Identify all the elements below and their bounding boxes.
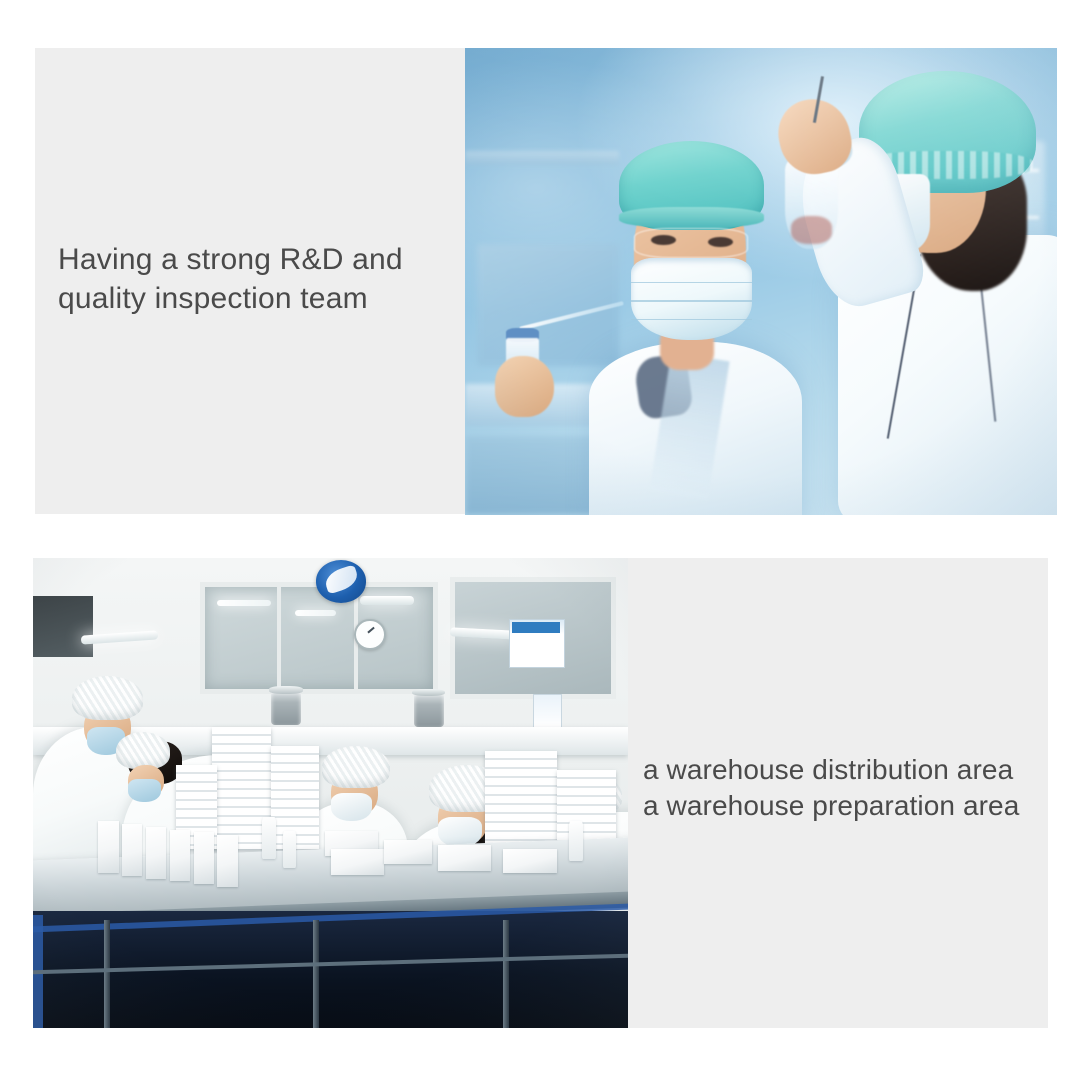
warehouse-packing-photo	[33, 558, 628, 1028]
bottom-section: a warehouse distribution area a warehous…	[0, 0, 1080, 1080]
warehouse-photo-vignette	[33, 558, 628, 1028]
slide-page: Having a strong R&D and quality inspecti…	[0, 0, 1080, 1080]
bottom-caption-text: a warehouse distribution area a warehous…	[643, 752, 1053, 824]
